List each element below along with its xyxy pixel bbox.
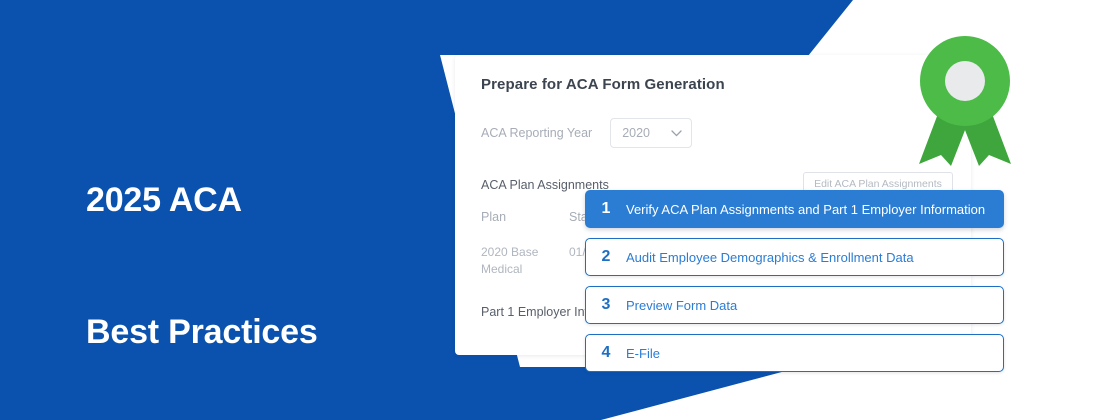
headline-line-1: 2025 ACA	[86, 178, 318, 222]
table-cell-plan: 2020 Base Medical	[481, 244, 569, 278]
part1-employer-heading: Part 1 Employer Inf	[481, 305, 588, 319]
step-item-1[interactable]: 1 Verify ACA Plan Assignments and Part 1…	[585, 190, 1004, 228]
card-title: Prepare for ACA Form Generation	[481, 76, 725, 93]
chevron-down-icon	[671, 130, 682, 137]
step-number: 1	[586, 200, 626, 218]
step-number: 3	[586, 296, 626, 314]
award-ribbon-icon	[915, 33, 1015, 166]
step-label: Verify ACA Plan Assignments and Part 1 E…	[626, 202, 985, 217]
step-label: E-File	[626, 346, 660, 361]
reporting-year-row: ACA Reporting Year 2020	[481, 118, 692, 148]
promo-banner: 2025 ACA Best Practices Prepare for ACA …	[0, 0, 1100, 420]
headline-line-2: Best Practices	[86, 310, 318, 354]
step-number: 2	[586, 248, 626, 266]
step-label: Audit Employee Demographics & Enrollment…	[626, 250, 914, 265]
table-header-plan: Plan	[481, 210, 569, 224]
reporting-year-select[interactable]: 2020	[610, 118, 692, 148]
headline: 2025 ACA Best Practices	[86, 90, 318, 420]
reporting-year-value: 2020	[622, 126, 650, 140]
reporting-year-label: ACA Reporting Year	[481, 126, 592, 140]
step-label: Preview Form Data	[626, 298, 737, 313]
step-item-2[interactable]: 2 Audit Employee Demographics & Enrollme…	[585, 238, 1004, 276]
step-number: 4	[586, 344, 626, 362]
steps-list: 1 Verify ACA Plan Assignments and Part 1…	[585, 190, 1004, 382]
step-item-4[interactable]: 4 E-File	[585, 334, 1004, 372]
step-item-3[interactable]: 3 Preview Form Data	[585, 286, 1004, 324]
